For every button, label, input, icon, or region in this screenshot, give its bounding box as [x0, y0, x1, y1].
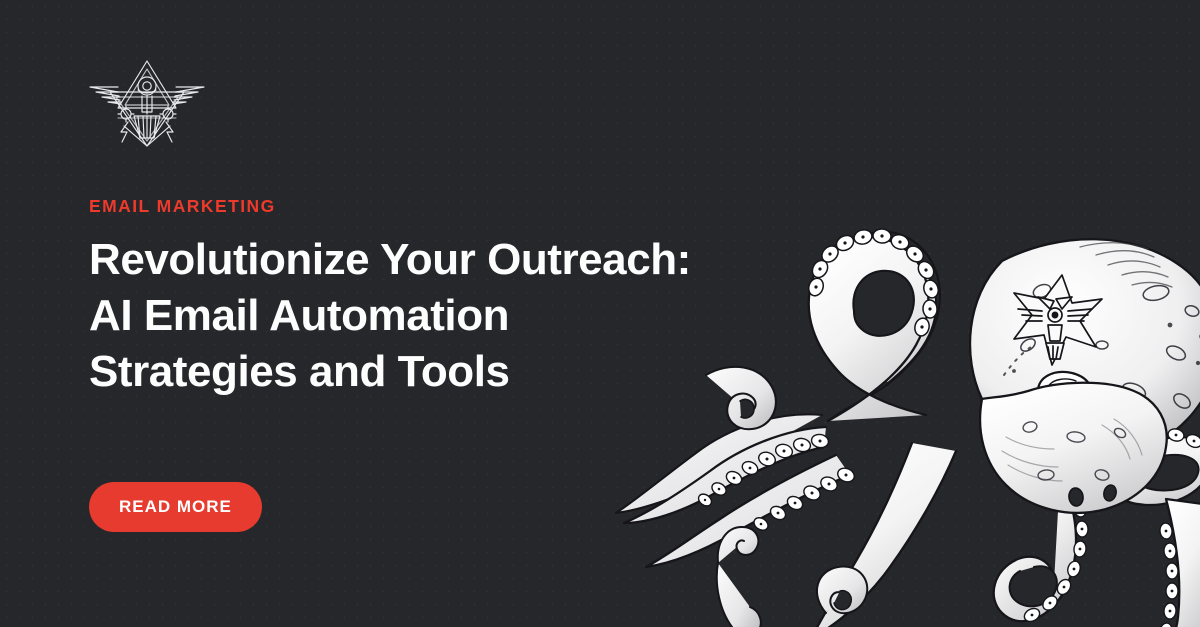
headline-line-2: AI Email Automation [89, 288, 749, 344]
category-eyebrow: EMAIL MARKETING [89, 196, 749, 217]
headline-line-1: Revolutionize Your Outreach: [89, 232, 749, 288]
blog-hero-card: EMAIL MARKETING Revolutionize Your Outre… [0, 0, 1200, 627]
page-title: Revolutionize Your Outreach: AI Email Au… [89, 232, 749, 400]
headline-line-3: Strategies and Tools [89, 344, 749, 400]
winged-triangle-eye-emblem-icon [88, 56, 206, 150]
hero-text-block: EMAIL MARKETING Revolutionize Your Outre… [89, 196, 749, 400]
brand-logo[interactable] [88, 56, 206, 150]
read-more-button[interactable]: READ MORE [89, 482, 262, 532]
